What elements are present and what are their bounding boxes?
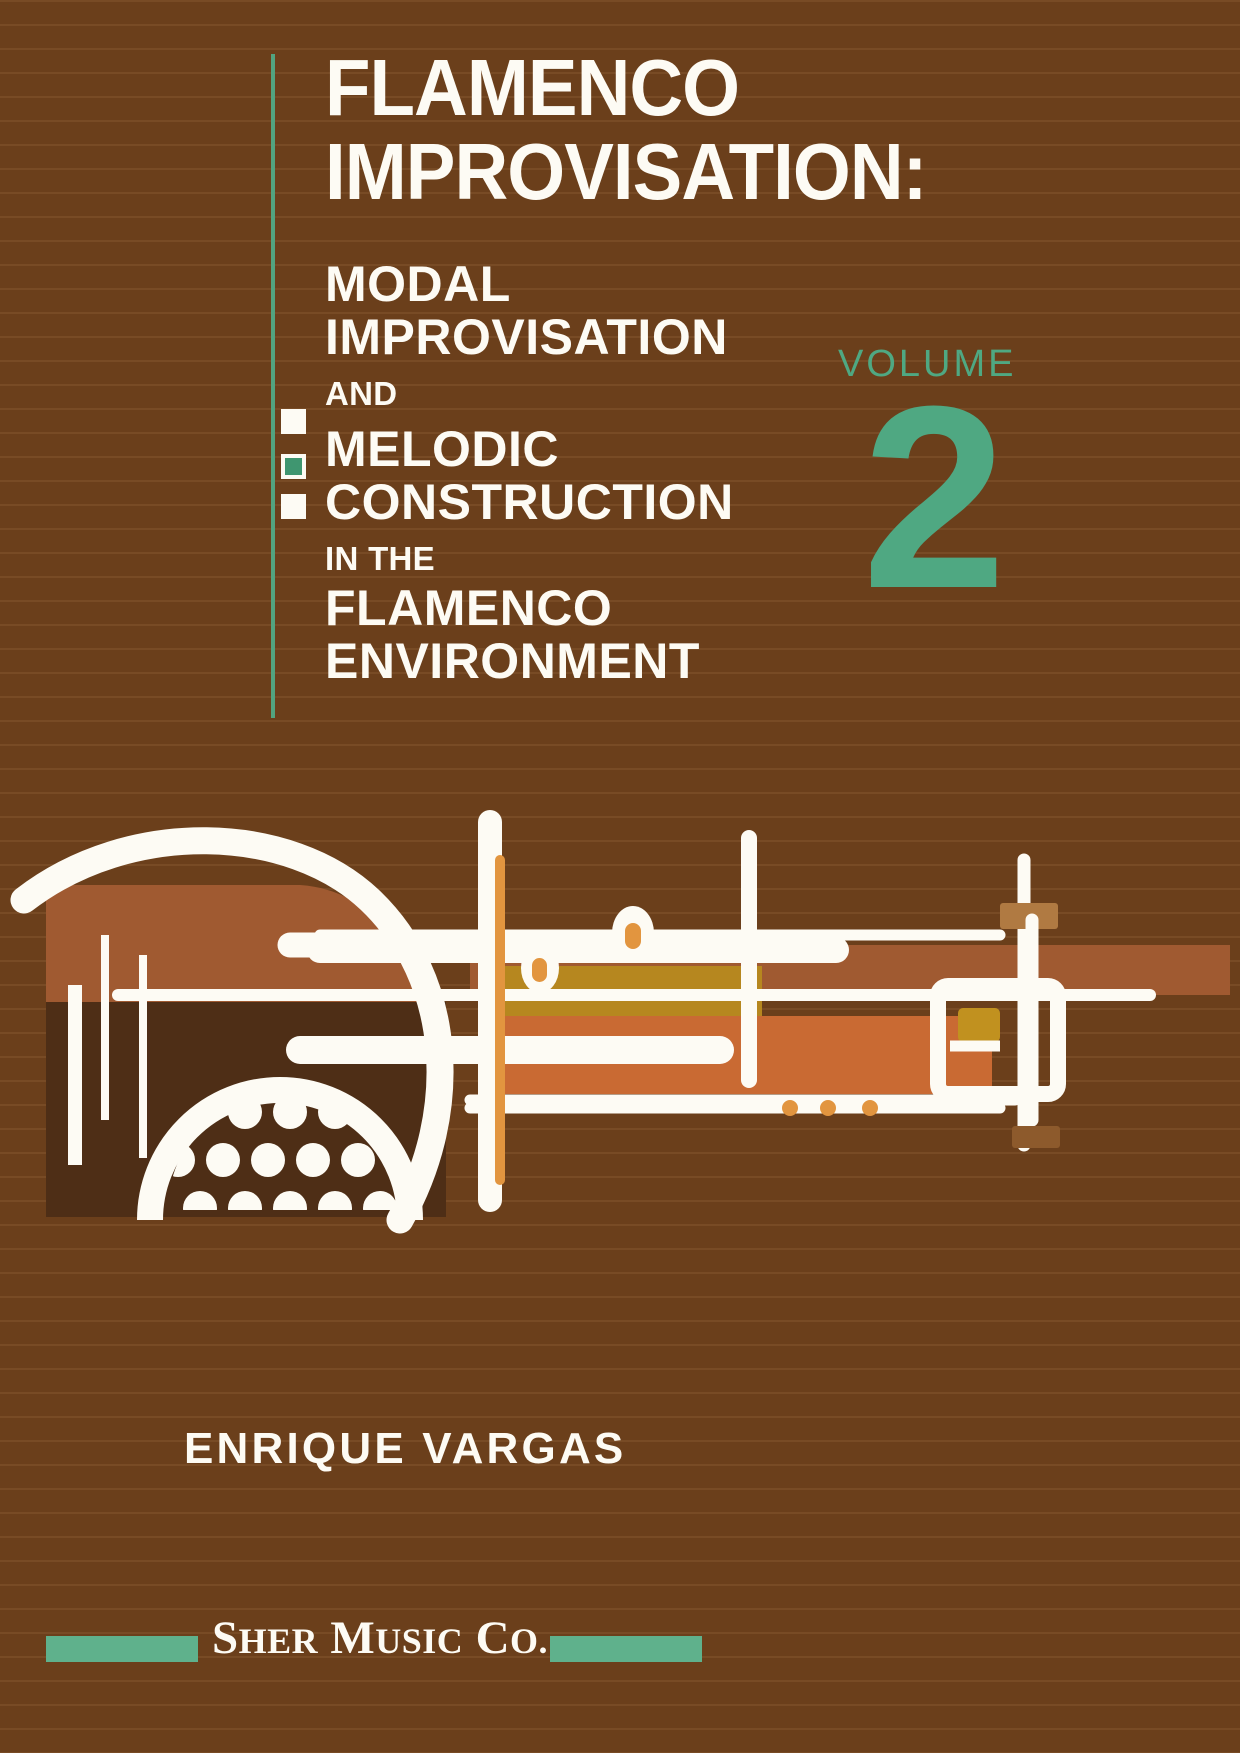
volume-number: 2 — [862, 368, 1007, 628]
publisher-m: M — [330, 1612, 375, 1664]
publisher-usic: USIC — [375, 1621, 463, 1661]
publisher-her: HER — [239, 1621, 319, 1661]
publisher-s: S — [212, 1612, 239, 1664]
publisher-bar-left — [46, 1636, 198, 1662]
publisher-o: O. — [510, 1621, 548, 1661]
marker-square-green — [281, 454, 306, 479]
publisher-bar-right — [550, 1636, 702, 1662]
title-line-2: IMPROVISATION: — [325, 130, 1004, 214]
publisher-c: C — [476, 1612, 510, 1664]
title-line-1: FLAMENCO — [325, 46, 1004, 130]
marker-square-white-top — [281, 409, 306, 434]
page-title: FLAMENCO IMPROVISATION: — [325, 46, 1055, 214]
publisher-logo: SHER MUSIC CO. — [212, 1611, 538, 1665]
title-vertical-rule — [271, 54, 275, 718]
subtitle-line-1: MODAL — [325, 258, 1085, 311]
guitar-illustration — [0, 790, 1240, 1260]
book-cover: FLAMENCO IMPROVISATION: MODAL IMPROVISAT… — [0, 0, 1240, 1753]
neck-color-bands — [470, 945, 1230, 1094]
author-name: ENRIQUE VARGAS — [184, 1424, 626, 1474]
marker-square-white-bottom — [281, 494, 306, 519]
